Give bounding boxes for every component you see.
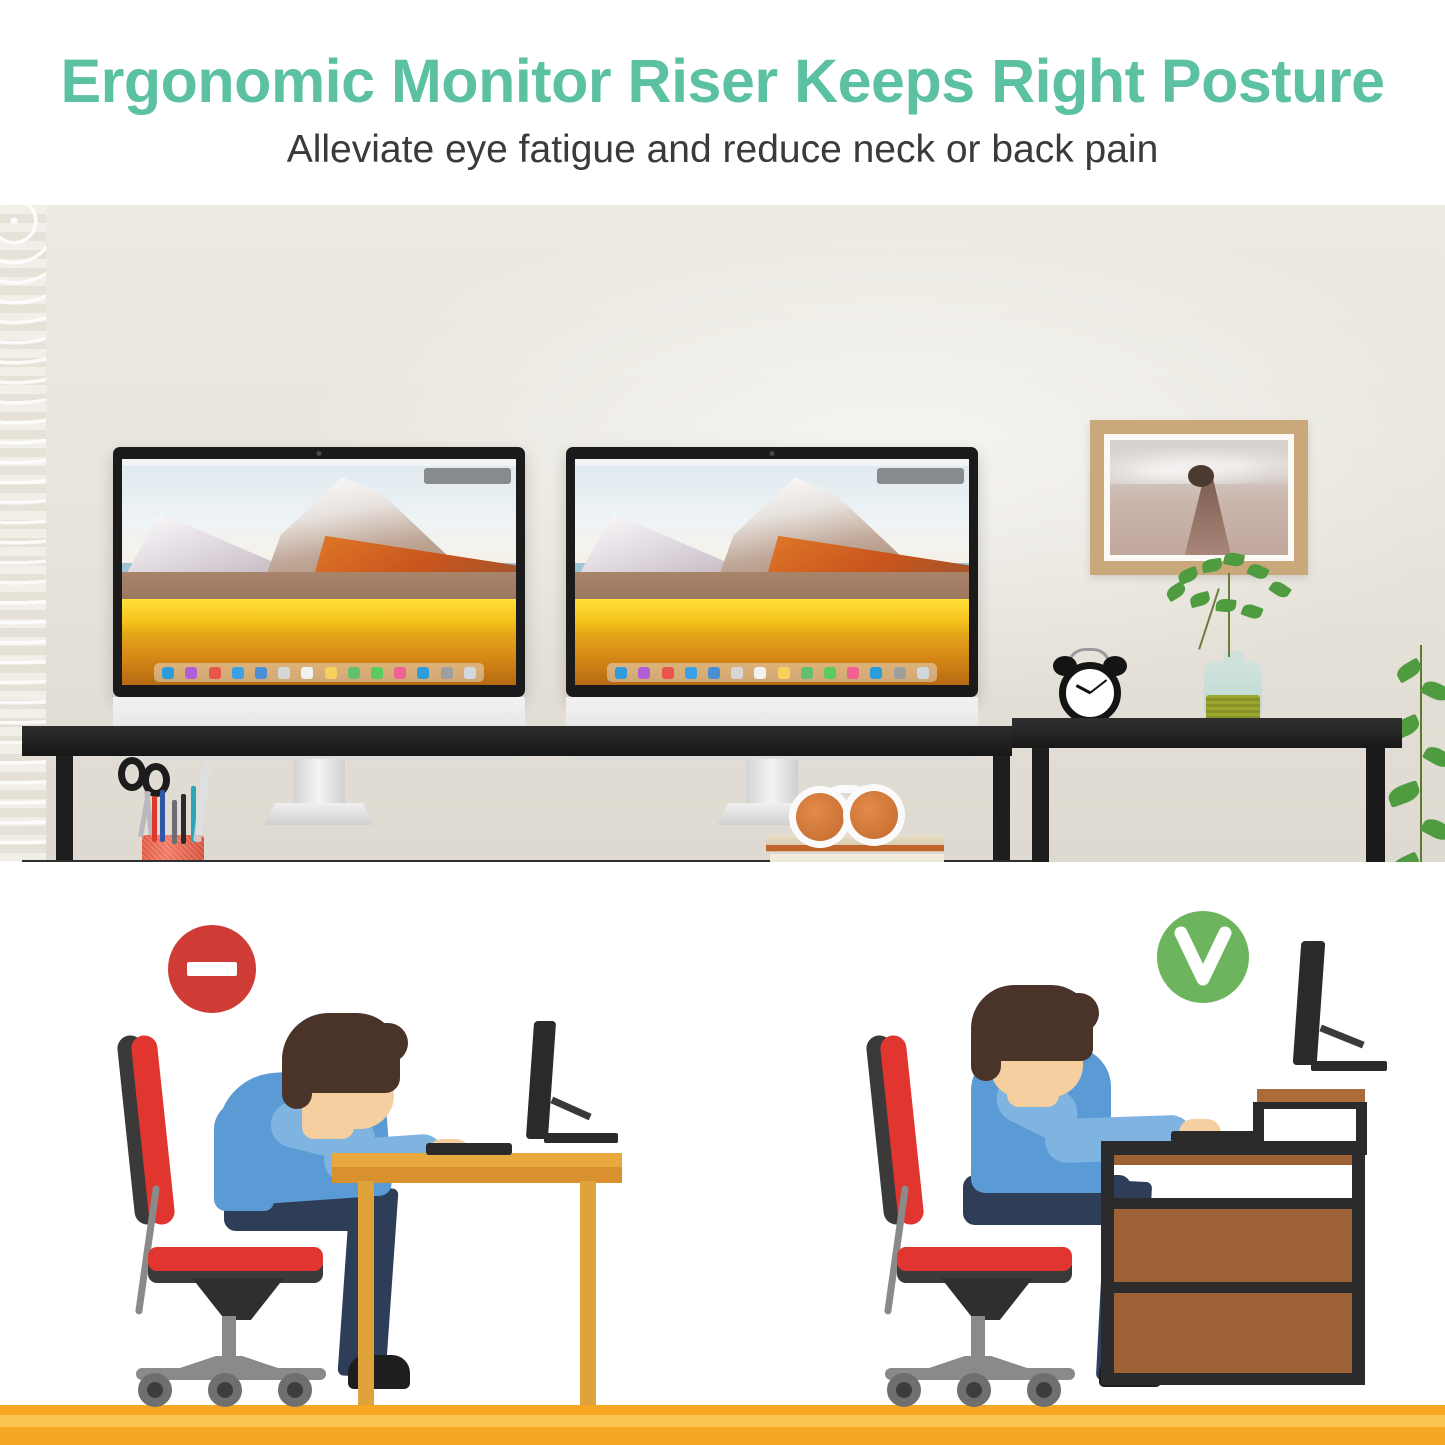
dock-icon-launchpad[interactable]	[209, 667, 221, 679]
monitor-right-bezel	[566, 447, 978, 697]
dock-icon-messages[interactable]	[824, 667, 836, 679]
plant-leaf	[1422, 743, 1445, 771]
desk-side-right	[1352, 1153, 1365, 1385]
pens-group	[146, 790, 206, 840]
desk-rail	[1101, 1198, 1365, 1209]
header-section: Ergonomic Monitor Riser Keeps Right Post…	[0, 0, 1445, 205]
dock-icon-notes[interactable]	[325, 667, 337, 679]
dock-icon-photos[interactable]	[754, 667, 766, 679]
plant-leaf	[1386, 780, 1422, 808]
riser-leg-right	[1366, 748, 1385, 862]
wallpaper-yellow-foliage	[575, 599, 969, 640]
product-marketing-image: Ergonomic Monitor Riser Keeps Right Post…	[0, 0, 1445, 1445]
dock-icon-notes[interactable]	[778, 667, 790, 679]
dock-icon-finder[interactable]	[162, 667, 174, 679]
plant-leaf	[1388, 851, 1422, 862]
book-bottom: THRIFT	[770, 854, 944, 862]
riser-leg-left	[56, 756, 73, 862]
plant-leaf	[1420, 815, 1445, 844]
dock-icon-maps[interactable]	[801, 667, 813, 679]
pen-dark	[181, 794, 186, 844]
plant-leaf	[1189, 591, 1212, 608]
keyboard-illustration	[1171, 1131, 1263, 1143]
dock-icon-contacts[interactable]	[731, 667, 743, 679]
person-back-curve	[214, 1101, 274, 1211]
right-potted-plant	[1386, 645, 1445, 862]
framed-wall-art	[1090, 420, 1308, 575]
monitor-riser-shelf-left	[22, 726, 1012, 756]
clock-hour-hand	[1075, 684, 1091, 694]
dock-icon-launchpad[interactable]	[662, 667, 674, 679]
dock-icon-trash[interactable]	[917, 667, 929, 679]
plant-stem	[1228, 573, 1230, 657]
desk-top-wood	[1107, 1155, 1359, 1165]
bad-posture-scene	[110, 885, 730, 1405]
clock-minute-hand	[1089, 679, 1107, 694]
monitor-base	[544, 1133, 618, 1143]
plant-leaf	[1223, 551, 1245, 568]
monitor-base	[1311, 1061, 1387, 1071]
pen-red	[152, 796, 157, 842]
monitor-stand-arm	[550, 1097, 591, 1120]
no-entry-icon	[168, 925, 256, 1013]
floor-band-bottom	[0, 1427, 1445, 1445]
desk-drawer-divider	[1101, 1282, 1365, 1293]
monitor-left-bezel	[113, 447, 525, 697]
riser-shelf-frame	[1253, 1102, 1367, 1109]
monitor-left-screen	[122, 459, 516, 685]
dock-icon-settings[interactable]	[441, 667, 453, 679]
pen-grey	[172, 800, 177, 844]
headphones-earcup-right	[850, 791, 898, 839]
dock-icon-siri[interactable]	[185, 667, 197, 679]
floor-band-mid	[0, 1415, 1445, 1427]
dock-icon-messages[interactable]	[371, 667, 383, 679]
webcam-icon	[317, 451, 322, 456]
dock-icon-music[interactable]	[394, 667, 406, 679]
macos-dock	[154, 663, 485, 682]
posture-comparison-illustration	[0, 862, 1445, 1445]
desk-drawer-upper	[1114, 1209, 1352, 1282]
dock-icon-mail[interactable]	[255, 667, 267, 679]
dock-icon-siri[interactable]	[638, 667, 650, 679]
dock-icon-trash[interactable]	[464, 667, 476, 679]
good-posture-scene	[845, 885, 1445, 1405]
floor-band-top	[0, 1405, 1445, 1415]
person-neck	[302, 1097, 354, 1139]
chair-caster	[138, 1373, 172, 1407]
monitor-right	[566, 447, 978, 737]
pen-blue	[160, 790, 165, 842]
art-image	[1110, 440, 1288, 555]
macos-menu-bar	[122, 459, 516, 466]
macos-menu-bar	[575, 459, 969, 466]
person-bad-posture	[196, 1005, 496, 1405]
riser-leg-middle	[993, 756, 1010, 862]
desk-drawer-lower	[1114, 1293, 1352, 1373]
monitor-stand-arm	[1319, 1025, 1364, 1049]
dock-icon-contacts[interactable]	[278, 667, 290, 679]
wallpaper-yellow-foliage	[122, 599, 516, 640]
raised-monitor	[1275, 941, 1385, 1089]
plant-leaf	[1215, 598, 1236, 613]
riser-leg-left	[1253, 1105, 1264, 1155]
person-hair-fringe	[364, 1023, 408, 1063]
person-neck	[1007, 1069, 1059, 1107]
dock-icon-appstore[interactable]	[417, 667, 429, 679]
dock-icon-mail[interactable]	[708, 667, 720, 679]
headphones-earcup-left	[796, 793, 844, 841]
riser-leg-inner-right	[1032, 748, 1049, 862]
page-subtitle: Alleviate eye fatigue and reduce neck or…	[0, 128, 1445, 172]
plant-leaf	[1420, 678, 1445, 705]
monitor-left	[113, 447, 525, 737]
dock-icon-safari[interactable]	[685, 667, 697, 679]
no-entry-bar	[187, 962, 236, 976]
clock-face	[1059, 662, 1121, 724]
vase-plant-foliage	[1150, 553, 1320, 663]
desktop-widget	[424, 468, 511, 484]
webcam-icon	[770, 451, 775, 456]
riser-leg-right	[1356, 1105, 1367, 1155]
desktop-widget	[877, 468, 964, 484]
chair-caster	[887, 1373, 921, 1407]
keyboard-illustration	[426, 1143, 512, 1155]
dock-icon-safari[interactable]	[232, 667, 244, 679]
dock-icon-finder[interactable]	[615, 667, 627, 679]
monitor-right-screen	[575, 459, 969, 685]
headphones	[790, 783, 910, 841]
desk-bottom-rail	[1101, 1373, 1365, 1385]
alarm-clock	[1053, 646, 1127, 722]
page-title: Ergonomic Monitor Riser Keeps Right Post…	[0, 46, 1445, 116]
person-hair-fringe	[1053, 993, 1099, 1033]
macos-dock	[607, 663, 938, 682]
product-photo: THRIFT EPSON EPSON	[0, 205, 1445, 862]
monitor-left-foot	[264, 803, 374, 825]
monitor-panel	[1293, 941, 1326, 1065]
monitor-left-stem	[293, 759, 345, 807]
person-hair-sideburn	[282, 1049, 312, 1109]
desk-side-left	[1101, 1153, 1114, 1385]
dock-icon-maps[interactable]	[348, 667, 360, 679]
dock-icon-appstore[interactable]	[870, 667, 882, 679]
lace-curtain	[0, 205, 46, 862]
monitor-panel	[526, 1021, 556, 1139]
plant-leaf	[1246, 561, 1270, 581]
plant-leaf	[1201, 558, 1223, 574]
dock-icon-settings[interactable]	[894, 667, 906, 679]
wood-desk-leg-right	[580, 1181, 596, 1405]
dock-icon-photos[interactable]	[301, 667, 313, 679]
dock-icon-music[interactable]	[847, 667, 859, 679]
monitor-riser-shelf-right	[1012, 718, 1402, 748]
wood-desk-leg-left	[358, 1181, 374, 1405]
person-hair-sideburn	[971, 1019, 1001, 1081]
low-monitor	[508, 1021, 618, 1153]
wood-desk-apron	[332, 1167, 622, 1183]
plant-leaf	[1268, 579, 1292, 601]
plant-leaf	[1240, 602, 1263, 621]
